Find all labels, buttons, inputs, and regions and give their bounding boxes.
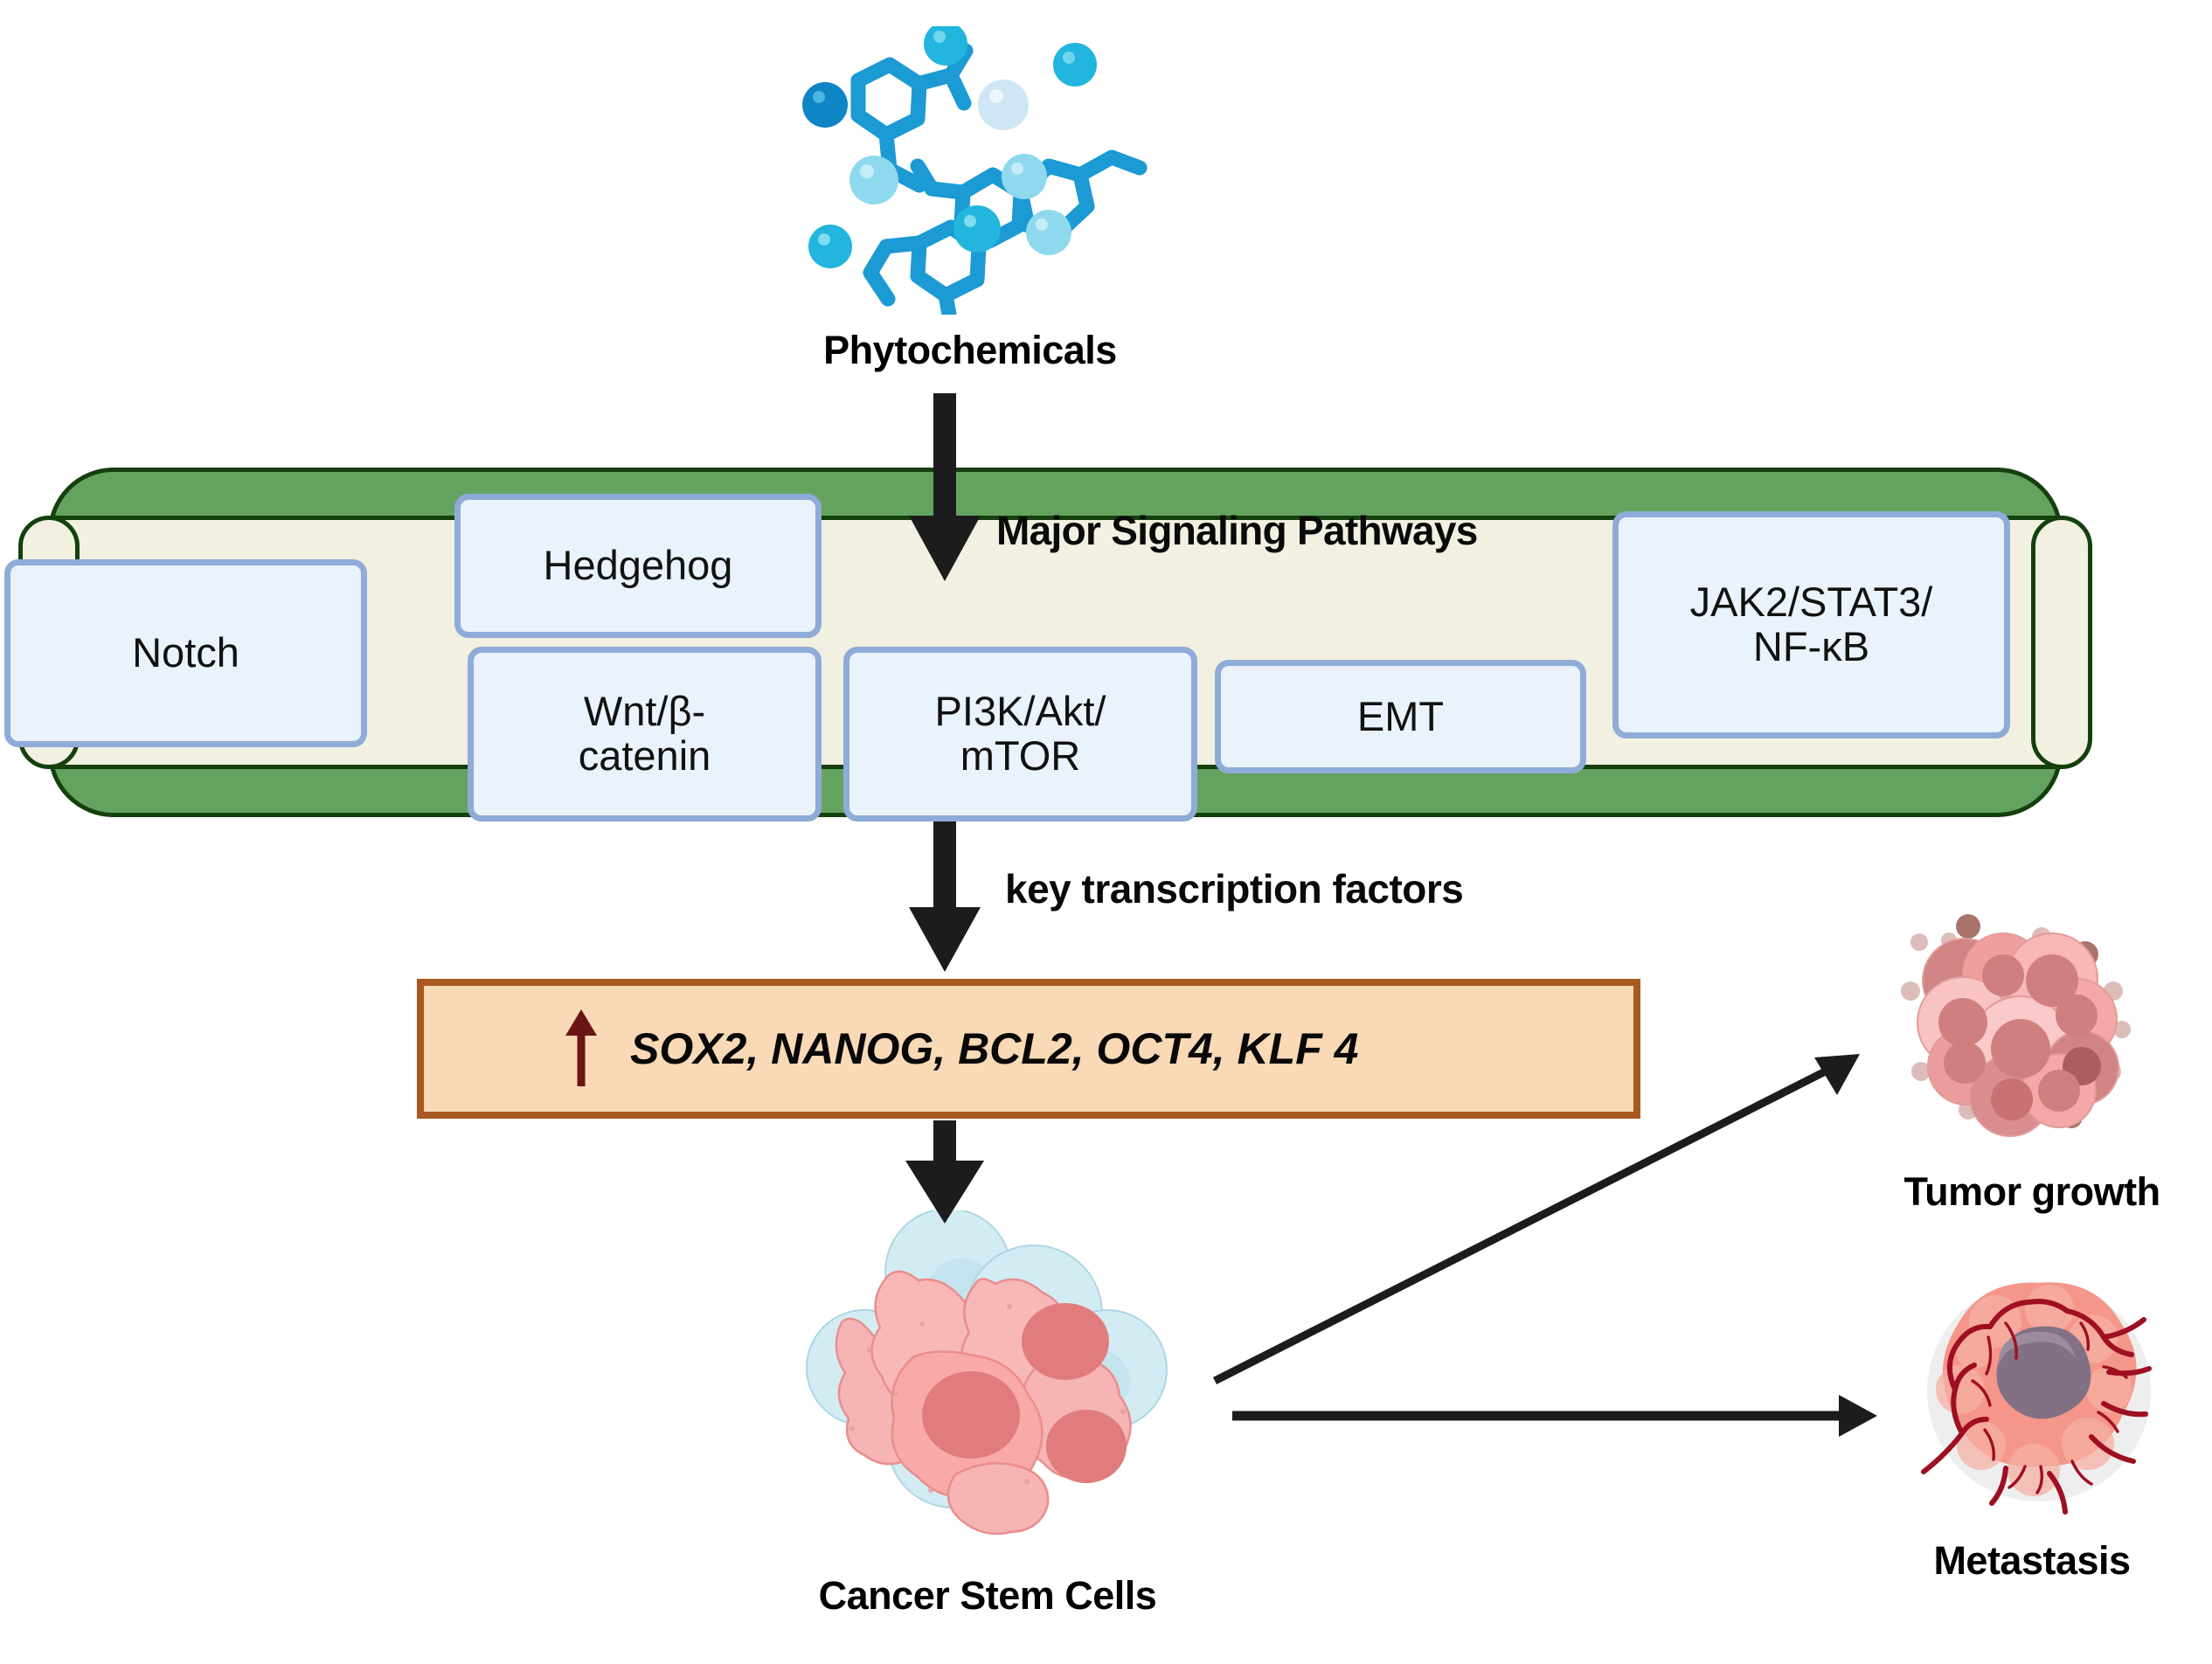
up-arrow-increase-icon	[564, 1009, 599, 1088]
cancer-stem-cell-cluster-icon	[800, 1210, 1175, 1551]
metastasis-label: Metastasis	[1853, 1538, 2211, 1584]
phytochemicals-label: Phytochemicals	[725, 328, 1215, 373]
pathway-box-emt[interactable]: EMT	[1215, 660, 1586, 773]
pathway-box-jak2-stat3-nfkb[interactable]: JAK2/STAT3/ NF-κB	[1612, 511, 2010, 738]
transcription-factors-box[interactable]: SOX2, NANOG, BCL2, OCT4, KLF 4	[417, 979, 1640, 1119]
major-signaling-pathways-title: Major Signaling Pathways	[996, 507, 1478, 554]
arrow-transcription-factors-to-csc	[905, 1120, 984, 1224]
diagram-canvas: Phytochemicals Notch Hedgehog Wnt/β- cat…	[0, 0, 2212, 1664]
membrane-cap-right	[2031, 516, 2092, 769]
phytochemicals-molecules-icon	[787, 26, 1154, 315]
pathway-box-hedgehog[interactable]: Hedgehog	[454, 494, 822, 638]
key-transcription-factors-label: key transcription factors	[1005, 865, 1463, 912]
tumor-growth-label: Tumor growth	[1853, 1169, 2211, 1215]
arrow-pathways-to-transcription-factors	[909, 822, 981, 972]
cancer-stem-cells-label: Cancer Stem Cells	[725, 1573, 1250, 1619]
pathway-box-pi3k-akt-mtor[interactable]: PI3K/Akt/ mTOR	[843, 647, 1197, 822]
tumor-cell-cluster-icon	[1888, 900, 2176, 1162]
transcription-factors-gene-list: SOX2, NANOG, BCL2, OCT4, KLF 4	[630, 1023, 1358, 1074]
vascularized-tumor-icon	[1901, 1258, 2172, 1521]
pathway-box-notch[interactable]: Notch	[4, 559, 367, 747]
arrow-csc-to-metastasis	[1232, 1395, 1877, 1437]
pathway-box-wnt-beta-catenin[interactable]: Wnt/β- catenin	[468, 647, 822, 822]
